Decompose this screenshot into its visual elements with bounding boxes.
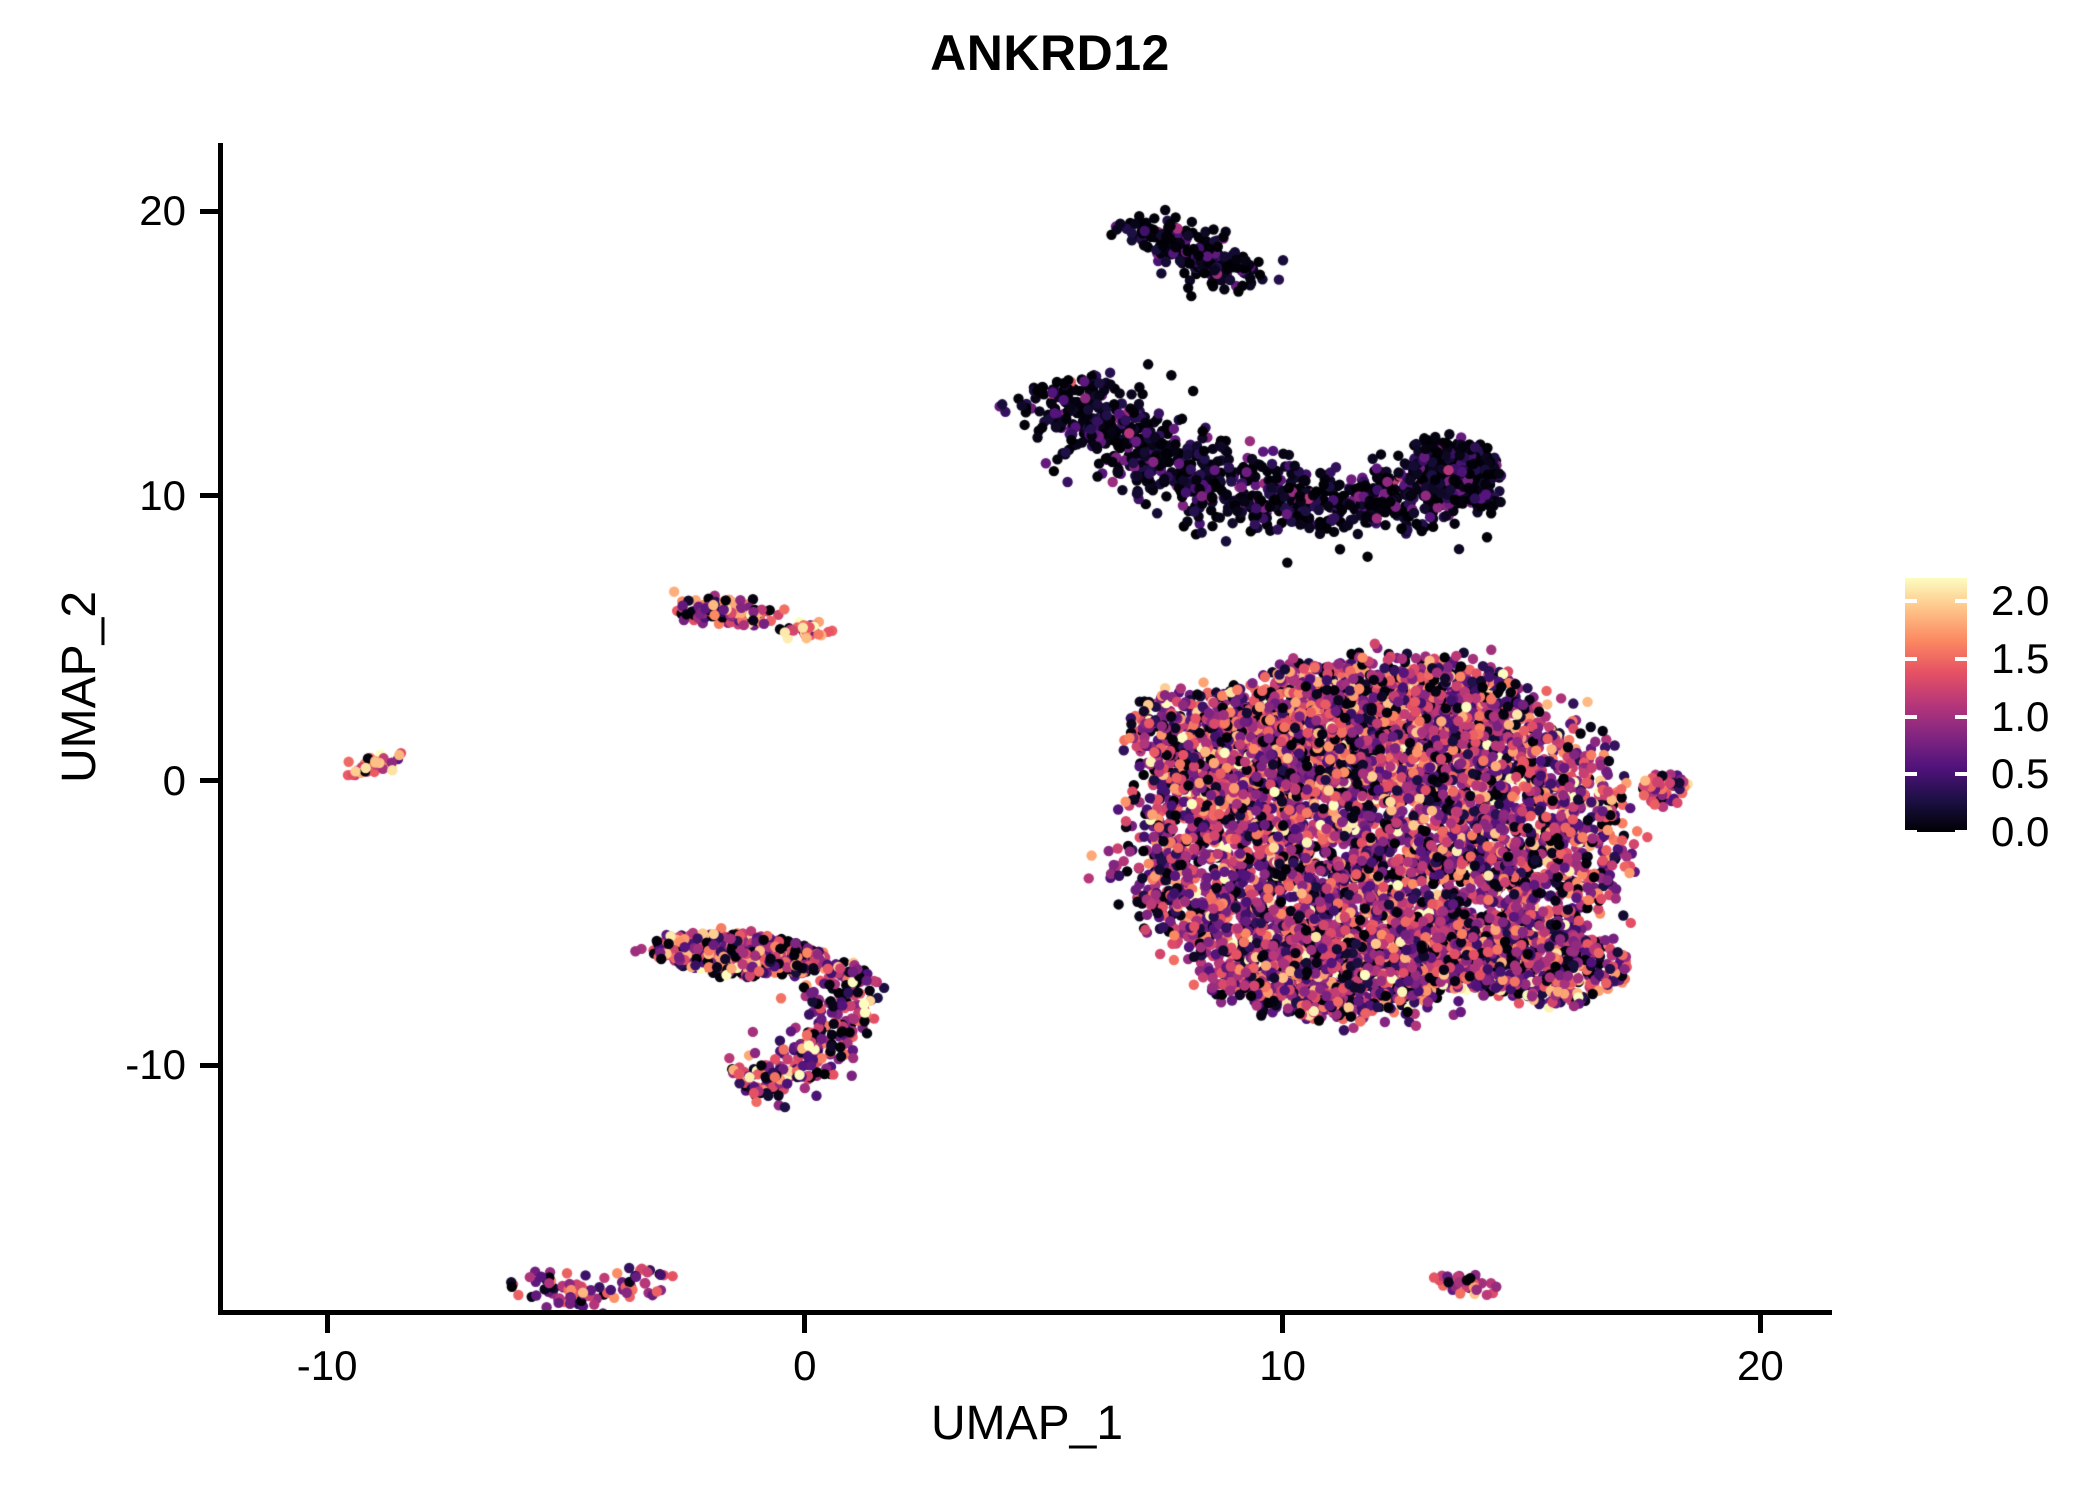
colorbar-tick-label: 0.0 bbox=[1991, 811, 2049, 853]
colorbar-tick-label: 0.5 bbox=[1991, 753, 2049, 795]
y-axis-tick-label: -10 bbox=[26, 1044, 186, 1086]
colorbar-gradient bbox=[1905, 578, 1967, 832]
x-axis-tick-label: 20 bbox=[1660, 1345, 1860, 1387]
colorbar-tick-label: 2.0 bbox=[1991, 580, 2049, 622]
colorbar-tick bbox=[1955, 657, 1967, 661]
x-axis-tick-label: 10 bbox=[1183, 1345, 1383, 1387]
colorbar-tick bbox=[1955, 715, 1967, 719]
x-axis-tick bbox=[325, 1315, 330, 1333]
x-axis-tick bbox=[802, 1315, 807, 1333]
x-axis-tick bbox=[1280, 1315, 1285, 1333]
y-axis-tick bbox=[200, 493, 218, 498]
colorbar-tick bbox=[1905, 772, 1917, 776]
y-axis-tick bbox=[200, 778, 218, 783]
colorbar-tick bbox=[1955, 599, 1967, 603]
umap-scatter-canvas bbox=[222, 143, 1832, 1310]
colorbar-tick bbox=[1905, 715, 1917, 719]
colorbar-tick bbox=[1955, 830, 1967, 834]
y-axis-tick-label: 0 bbox=[26, 760, 186, 802]
colorbar-tick-label: 1.5 bbox=[1991, 638, 2049, 680]
colorbar-legend: 2.01.51.00.50.0 bbox=[1905, 578, 2095, 898]
y-axis-tick bbox=[200, 1063, 218, 1068]
colorbar-tick bbox=[1905, 599, 1917, 603]
colorbar-tick-label: 1.0 bbox=[1991, 696, 2049, 738]
x-axis-title: UMAP_1 bbox=[222, 1400, 1832, 1448]
scatter-plot-panel bbox=[222, 143, 1832, 1310]
x-axis-tick-label: -10 bbox=[227, 1345, 427, 1387]
y-axis-tick-label: 10 bbox=[26, 475, 186, 517]
x-axis-tick bbox=[1758, 1315, 1763, 1333]
colorbar-tick bbox=[1905, 830, 1917, 834]
page-title: ANKRD12 bbox=[0, 28, 2100, 78]
colorbar-tick bbox=[1905, 657, 1917, 661]
y-axis-tick bbox=[200, 209, 218, 214]
y-axis-title: UMAP_2 bbox=[56, 287, 104, 1087]
colorbar-tick bbox=[1955, 772, 1967, 776]
y-axis-tick-label: 20 bbox=[26, 190, 186, 232]
x-axis-line bbox=[218, 1310, 1832, 1315]
x-axis-tick-label: 0 bbox=[705, 1345, 905, 1387]
feature-plot-figure: ANKRD12 -1001020-1001020 UMAP_1 UMAP_2 2… bbox=[0, 0, 2100, 1500]
